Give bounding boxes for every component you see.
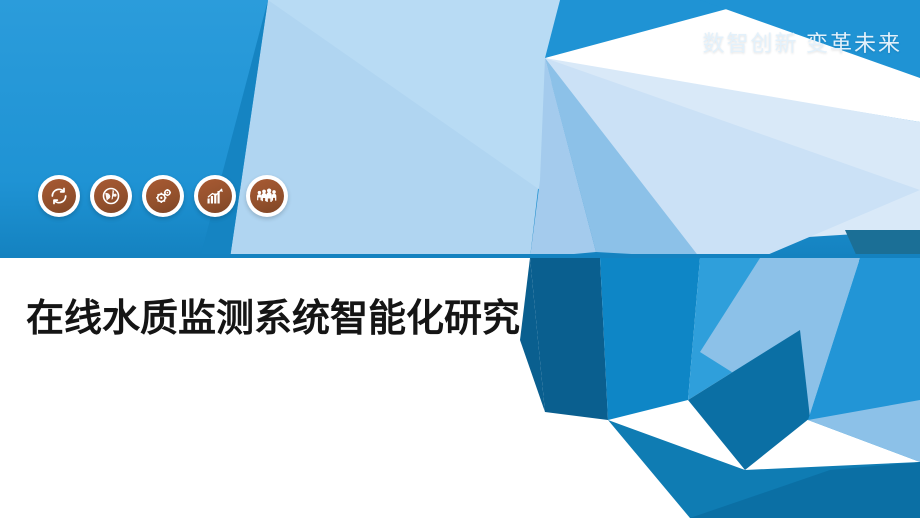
icon-row [38,175,288,217]
icon-badge-globe[interactable] [90,175,132,217]
page-title: 在线水质监测系统智能化研究 [26,292,546,346]
icon-badge-bar-chart[interactable] [194,175,236,217]
background-geometric-artwork [0,0,920,518]
recycle-arrow-icon [42,179,76,213]
icon-badge-gears[interactable] [142,175,184,217]
gears-icon [146,179,180,213]
people-group-icon [250,179,284,213]
poly-mid-left-wing [600,258,700,420]
icon-badge-people[interactable] [246,175,288,217]
band-bottom-edge [0,254,920,258]
bar-chart-growth-icon [198,179,232,213]
icon-badge-recycle[interactable] [38,175,80,217]
globe-icon [94,179,128,213]
tagline: 数智创新 变革未来 [702,26,902,58]
slide-canvas: 数智创新 变革未来 [0,0,920,518]
